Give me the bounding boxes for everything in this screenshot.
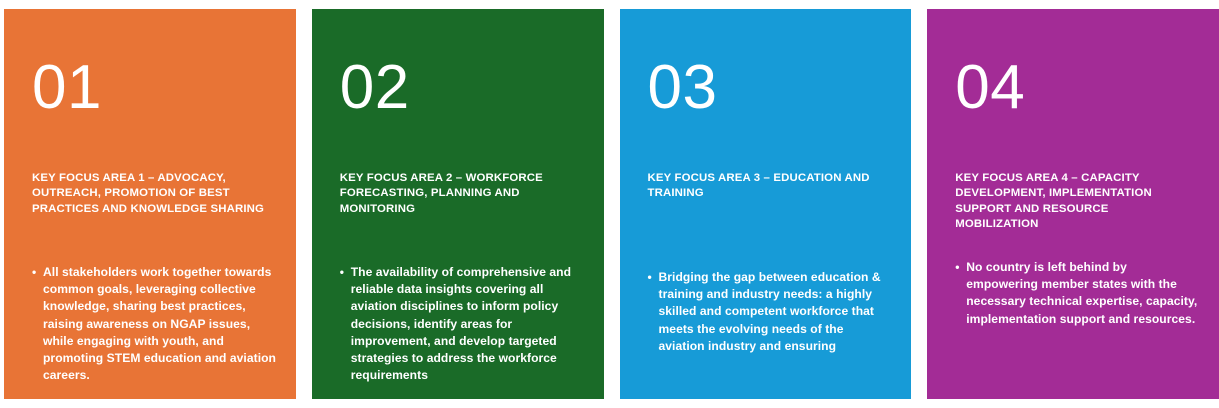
focus-area-card: 03 KEY FOCUS AREA 3 – EDUCATION AND TRAI… — [620, 9, 912, 399]
card-bullet-list: Bridging the gap between education & tra… — [648, 269, 892, 355]
focus-area-card: 04 KEY FOCUS AREA 4 – CAPACITY DEVELOPME… — [927, 9, 1219, 399]
focus-area-card: 01 KEY FOCUS AREA 1 – ADVOCACY, OUTREACH… — [4, 9, 296, 399]
card-bullet-item: All stakeholders work together towards c… — [32, 264, 276, 384]
card-heading: KEY FOCUS AREA 1 – ADVOCACY, OUTREACH, P… — [32, 171, 266, 217]
card-heading: KEY FOCUS AREA 4 – CAPACITY DEVELOPMENT,… — [955, 171, 1189, 233]
card-number: 02 — [340, 57, 410, 119]
card-heading: KEY FOCUS AREA 2 – WORKFORCE FORECASTING… — [340, 171, 574, 217]
card-bullet-item: The availability of comprehensive and re… — [340, 264, 584, 384]
card-heading: KEY FOCUS AREA 3 – EDUCATION AND TRAININ… — [648, 171, 882, 202]
focus-area-card: 02 KEY FOCUS AREA 2 – WORKFORCE FORECAST… — [312, 9, 604, 399]
card-bullet-list: All stakeholders work together towards c… — [32, 264, 276, 384]
key-focus-areas-board: 01 KEY FOCUS AREA 1 – ADVOCACY, OUTREACH… — [0, 0, 1219, 408]
card-bullet-item: Bridging the gap between education & tra… — [648, 269, 892, 355]
card-number: 04 — [955, 57, 1025, 119]
card-bullet-item: No country is left behind by empowering … — [955, 259, 1199, 328]
card-number: 01 — [32, 57, 102, 119]
card-number: 03 — [648, 57, 718, 119]
card-bullet-list: The availability of comprehensive and re… — [340, 264, 584, 384]
card-bullet-list: No country is left behind by empowering … — [955, 259, 1199, 328]
